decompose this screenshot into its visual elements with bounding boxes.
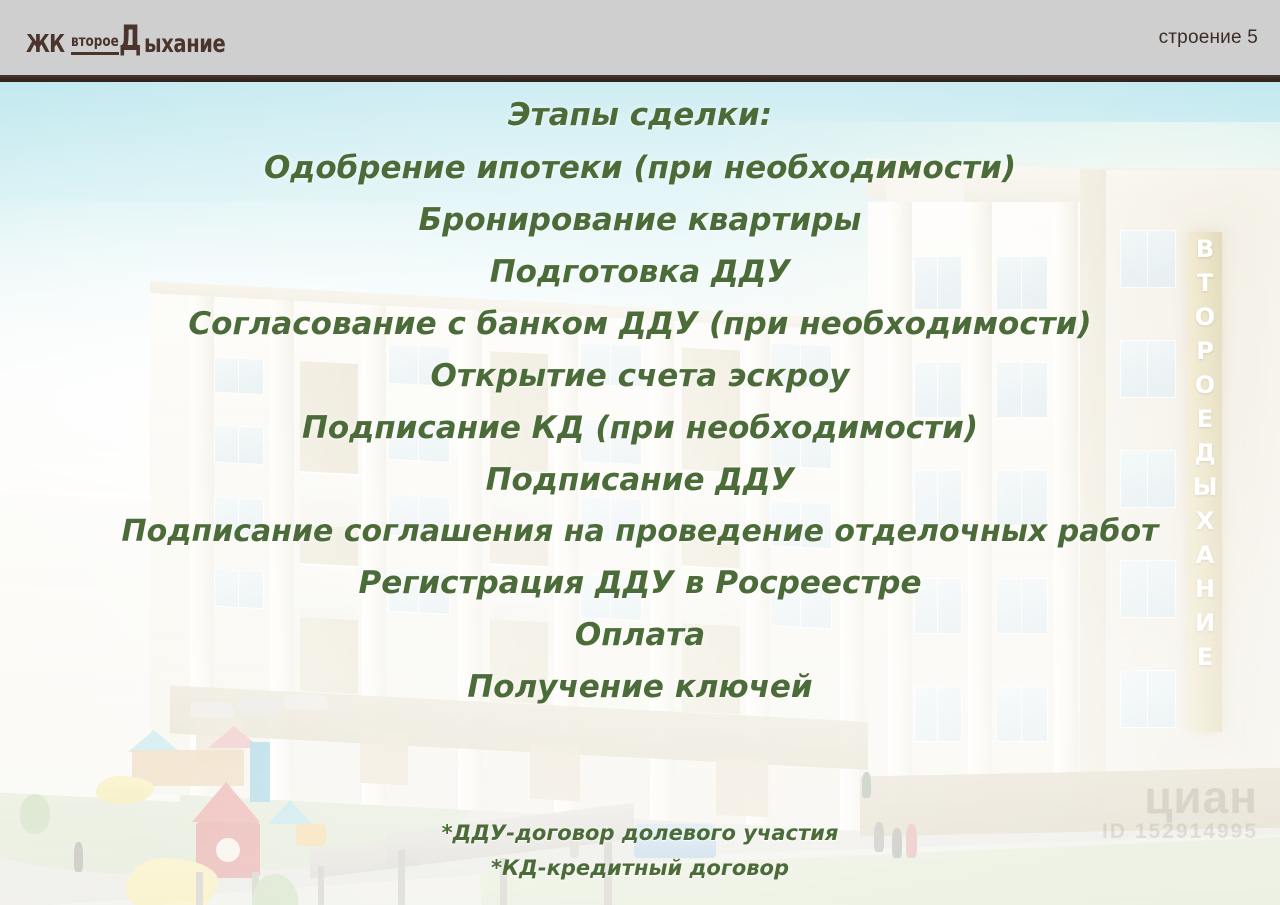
tower-front-facade [1080,170,1280,810]
vertical-sign-letter: В [1188,232,1222,266]
tower-plinth [860,767,1280,836]
vertical-sign-letter: Д [1188,436,1222,470]
vertical-sign-letter: А [1188,538,1222,572]
logo-drop-cap: Д [119,22,141,57]
header-divider [0,75,1280,82]
slide-page: ЖК второе Д ыхание строение 5 [0,0,1280,905]
vertical-sign-letter: Т [1188,266,1222,300]
vertical-sign-letter: Е [1188,402,1222,436]
entrance-3 [530,743,580,802]
canopy-post [398,850,405,905]
hero-photo: ВТОРОЕДЫХАНИЕ [0,82,1280,905]
canopy-post [604,842,612,905]
car-parked [284,694,328,710]
pedestrian [74,842,83,872]
vertical-sign-letter: Е [1188,640,1222,674]
vertical-sign-letter: Ы [1188,470,1222,504]
pedestrian [892,828,902,858]
canopy-post [500,858,507,905]
tower-side-facade [868,202,1084,802]
logo-rest: ыхание [144,31,225,56]
logo-prefix: ЖК [26,31,64,56]
building-vertical-sign: ВТОРОЕДЫХАНИЕ [1188,232,1222,732]
car-parked [190,702,234,718]
pedestrian [570,832,579,858]
car-parked [238,698,282,714]
building-label: строение 5 [1159,27,1258,49]
pedestrian-red-coat [906,824,917,858]
entrance-4 [716,757,768,817]
vertical-sign-letter: О [1188,300,1222,334]
vertical-sign-letter: И [1188,606,1222,640]
pedestrian [874,822,884,852]
page-header: ЖК второе Д ыхание строение 5 [0,0,1280,75]
car-blue [634,824,716,858]
canopy-post [318,866,324,905]
vertical-sign-letter: Х [1188,504,1222,538]
entrance-2 [360,729,408,786]
vertical-sign-letter: Н [1188,572,1222,606]
vertical-sign-letter: Р [1188,334,1222,368]
pedestrian [862,772,871,798]
logo-middle-word: второе [71,34,119,56]
brand-logo[interactable]: ЖК второе Д ыхание [26,22,248,56]
vertical-sign-letter: О [1188,368,1222,402]
